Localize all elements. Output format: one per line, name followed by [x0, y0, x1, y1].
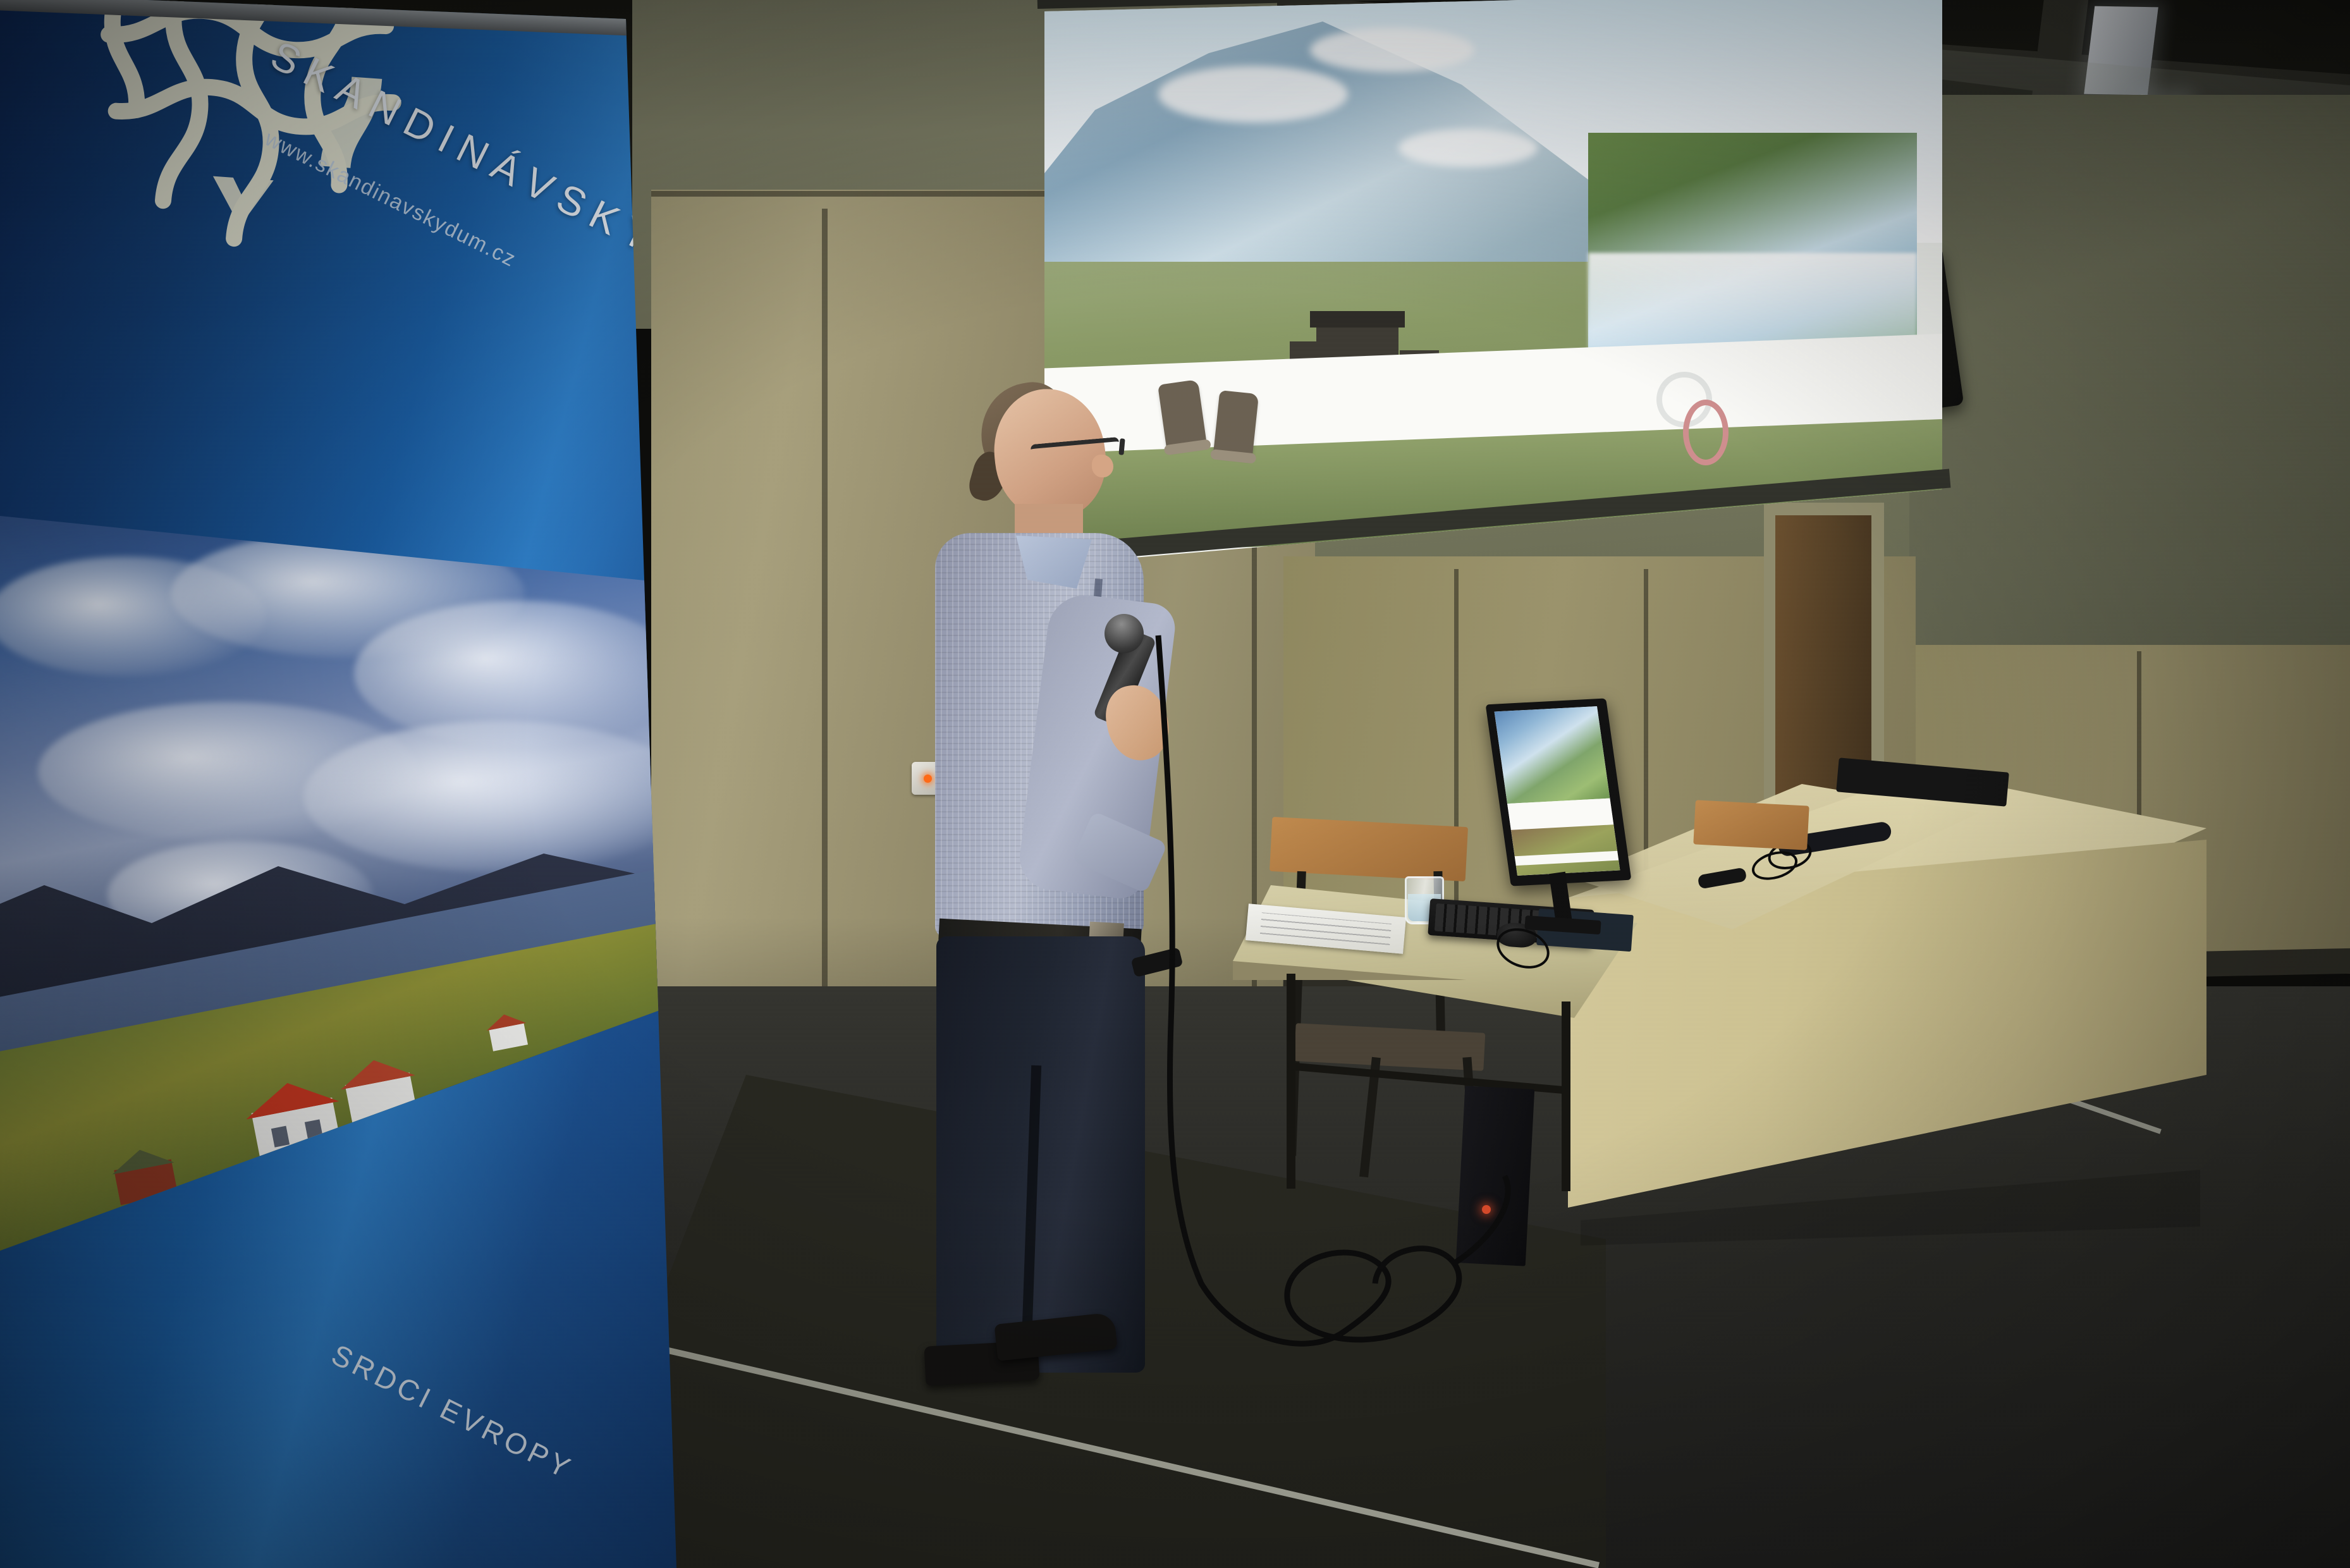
chair[interactable]	[1694, 803, 1840, 917]
pc-power-led	[1482, 1205, 1491, 1214]
screen-cabin-roof	[1310, 311, 1405, 328]
desk-leg	[1562, 1001, 1570, 1191]
wall-panel-seam	[651, 191, 1062, 197]
paper-text-lines	[1260, 912, 1392, 945]
banner-white-house	[240, 1068, 348, 1167]
screen-carabiner	[1683, 400, 1729, 465]
photograph-scene: SKANDINÁVSKÝ DŮM www.skandinavskydum.cz	[0, 0, 2350, 1568]
presenter	[920, 389, 1217, 1388]
desk-leg	[1287, 974, 1295, 1189]
screen-snow-patch	[1398, 129, 1538, 167]
screen-snow-patch	[1158, 66, 1348, 123]
screen-hiking-boot	[1213, 390, 1259, 458]
rollup-banner: SKANDINÁVSKÝ DŮM www.skandinavskydum.cz	[0, 0, 676, 1568]
banner-far-house	[484, 1008, 530, 1051]
nordic-knot-logo	[70, 0, 423, 283]
screen-inset-snow	[1588, 253, 1917, 348]
cloud	[303, 721, 676, 873]
trousers	[936, 936, 1145, 1373]
monitor-slide-bottom	[1511, 824, 1620, 876]
pc-tower	[1456, 1086, 1535, 1266]
banner-red-shed	[108, 1140, 181, 1206]
chair-back	[1693, 800, 1809, 850]
banner-tagline: SRDCI EVROPY	[326, 1337, 579, 1486]
banner-house-2	[336, 1048, 424, 1131]
monitor-slide-top	[1495, 706, 1610, 804]
chair-seat	[1294, 1023, 1486, 1071]
banner-landscape-photo	[0, 512, 676, 1265]
screen-snow-patch	[1310, 28, 1474, 72]
